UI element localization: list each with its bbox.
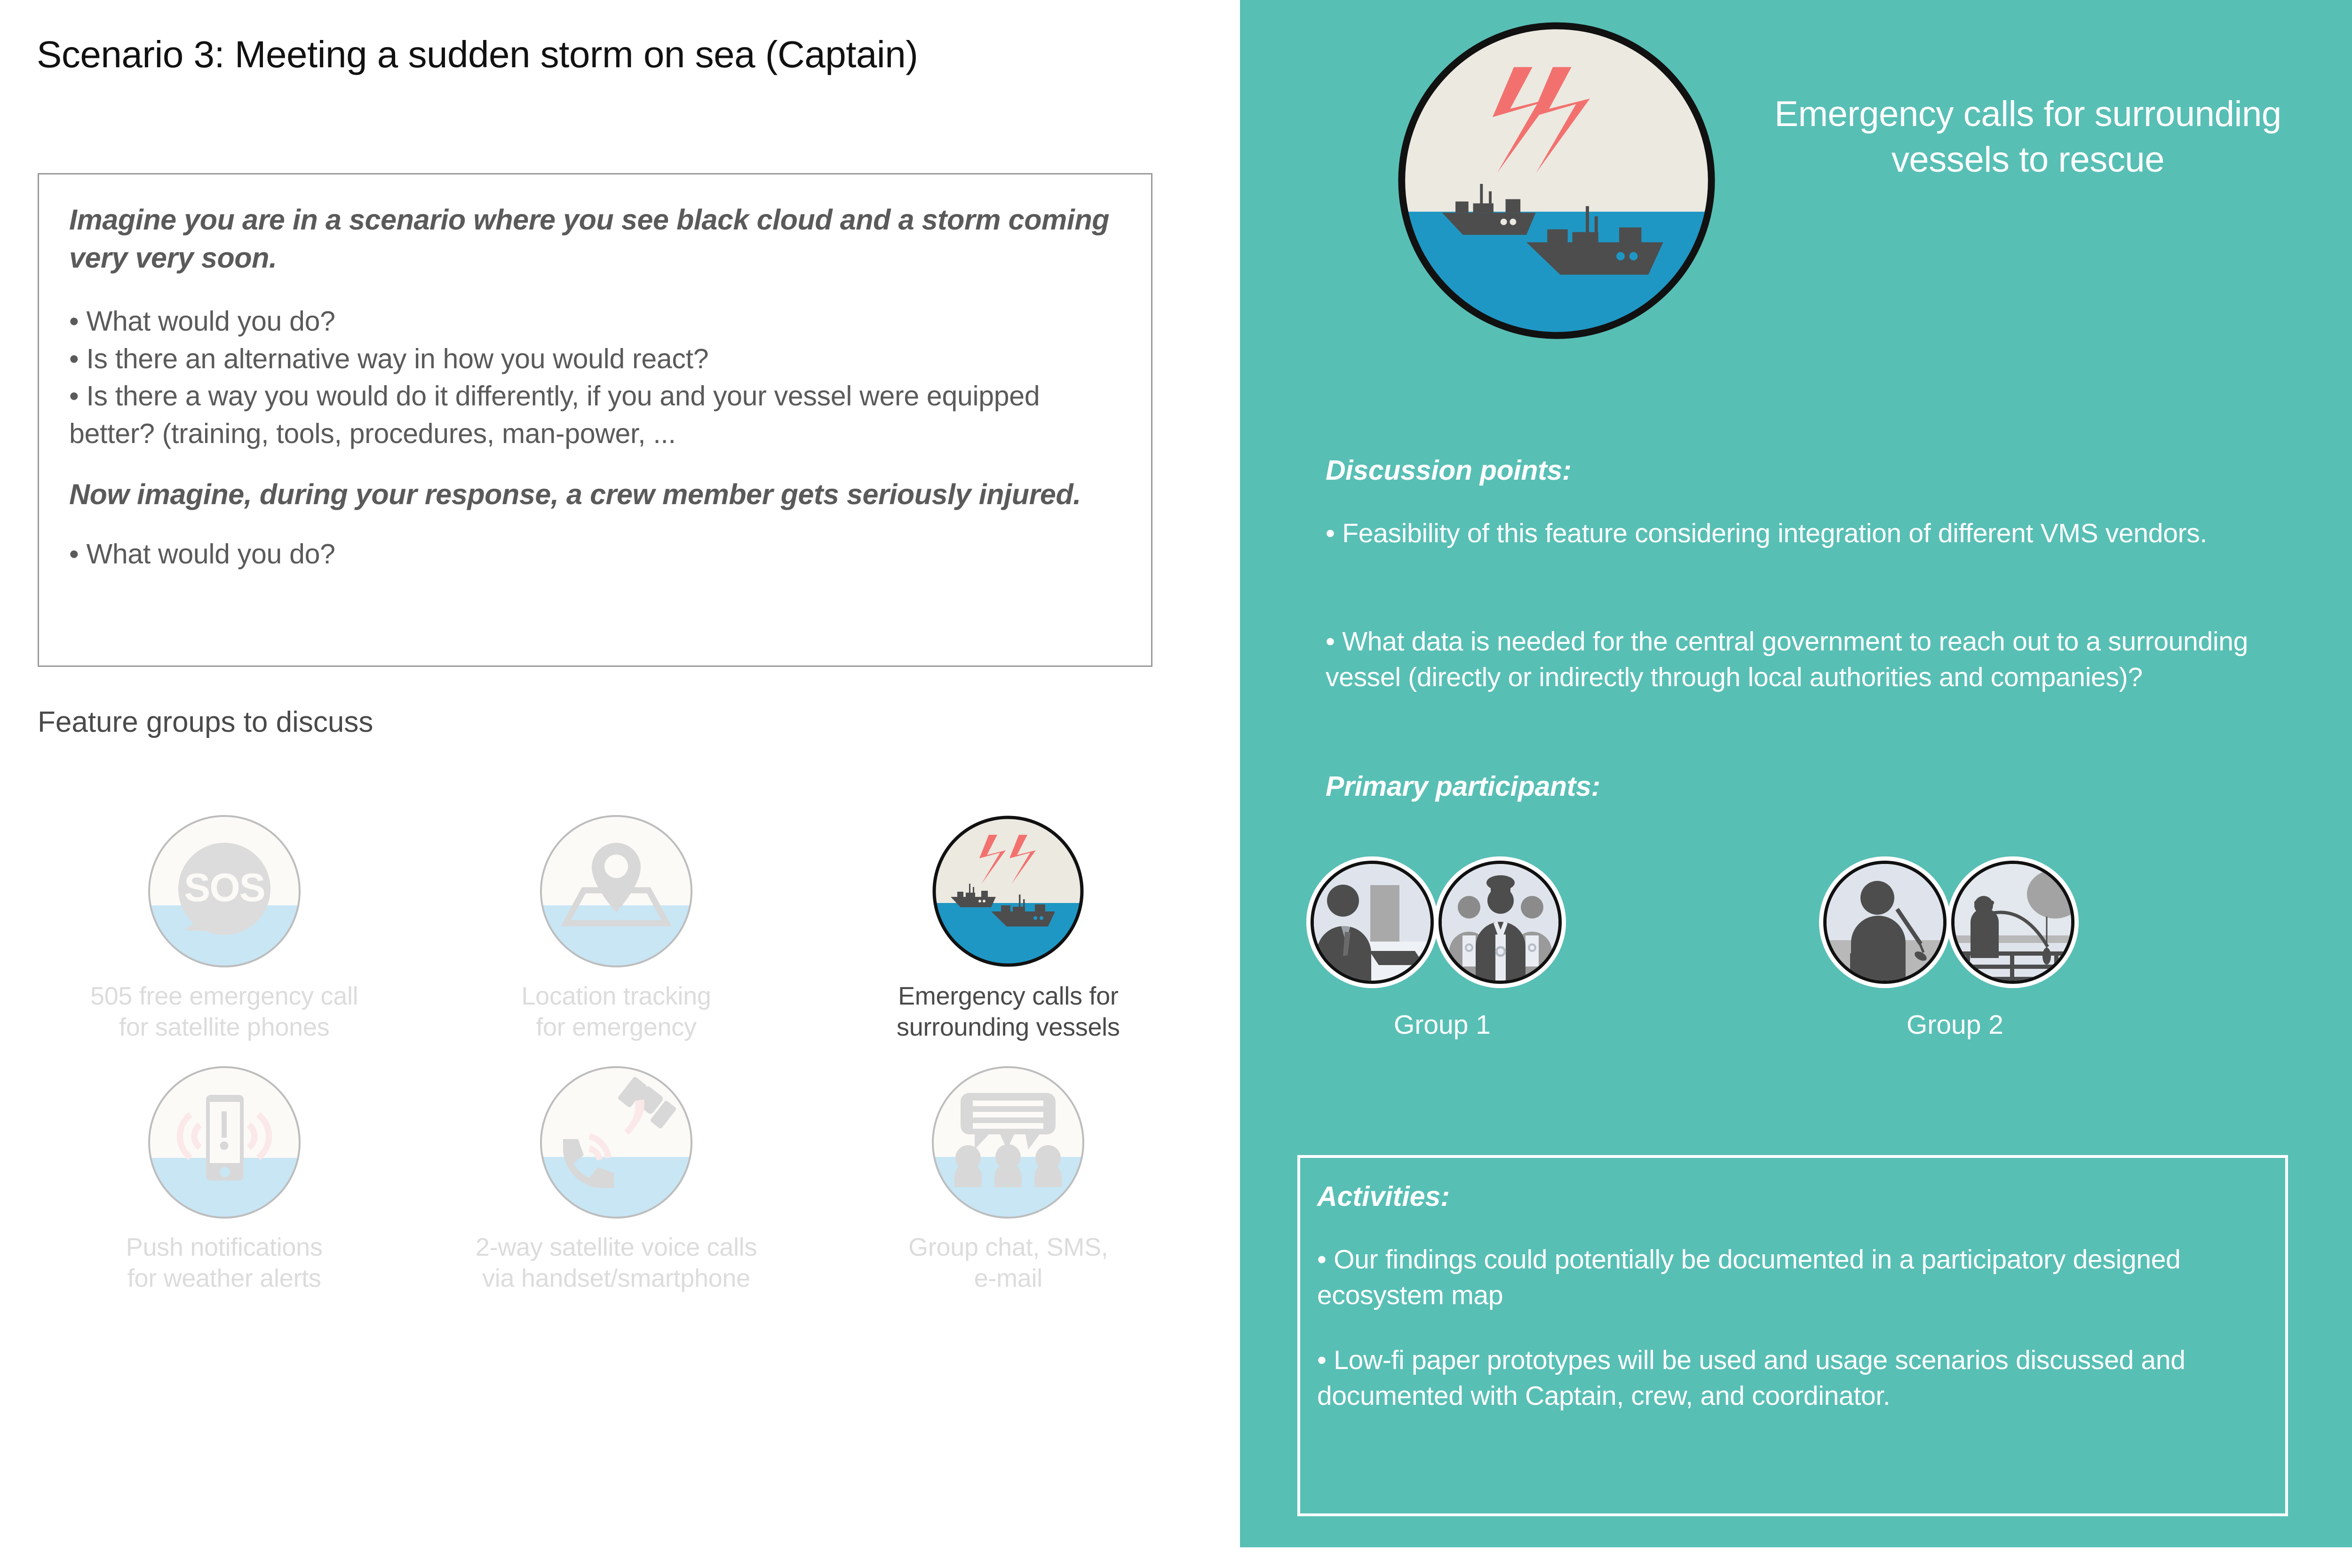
activities-heading: Activities:: [1317, 1180, 1450, 1212]
hero-title: Emergency calls for surrounding vessels …: [1757, 91, 2298, 183]
feature-groups-grid: SOS 505 free emergency call for satellit…: [28, 814, 1204, 1294]
participant-group-1[interactable]: Group 1: [1311, 861, 1574, 1040]
fisherman-with-rod-avatar: [1823, 861, 1947, 984]
hero-row: Emergency calls for surrounding vessels …: [1240, 16, 2352, 345]
feature-item-emergency-calls[interactable]: Emergency calls for surrounding vessels: [812, 814, 1204, 1043]
activities-box: Activities: • Our findings could potenti…: [1297, 1155, 2288, 1516]
feature-label-line1: Group chat, SMS,: [908, 1233, 1108, 1261]
two-vessels-storm-icon: [1375, 21, 1738, 345]
scenario-question-3: • Is there a way you would do it differe…: [69, 378, 1121, 452]
feature-label-line2: e-mail: [974, 1264, 1042, 1292]
sos-speech-bubble-icon: SOS: [147, 814, 302, 969]
feature-label-line1: Emergency calls for: [898, 982, 1118, 1010]
feature-label-line2: for weather alerts: [127, 1264, 321, 1292]
feature-label: Push notifications for weather alerts: [126, 1232, 323, 1294]
participant-group-2[interactable]: Group 2: [1823, 861, 2087, 1040]
feature-label-line2: via handset/smartphone: [482, 1264, 750, 1292]
scenario-question-1: • What would you do?: [69, 303, 1121, 341]
page-title: Scenario 3: Meeting a sudden storm on se…: [37, 33, 918, 76]
feature-label-line2: surrounding vessels: [897, 1013, 1120, 1041]
discussion-points-heading: Discussion points:: [1326, 454, 1571, 486]
participant-group-label: Group 2: [1823, 1009, 2087, 1040]
scenario-twist-question: • What would you do?: [69, 536, 1121, 573]
feature-label: Group chat, SMS, e-mail: [908, 1232, 1108, 1294]
left-panel: Scenario 3: Meeting a sudden storm on se…: [0, 0, 1240, 1568]
activity-1: • Our findings could potentially be docu…: [1317, 1242, 2253, 1314]
feature-label-line1: Push notifications: [126, 1233, 323, 1261]
feature-label: 505 free emergency call for satellite ph…: [90, 981, 358, 1043]
group-chat-icon: [930, 1065, 1086, 1220]
participant-group-label: Group 1: [1311, 1009, 1574, 1040]
map-pin-icon: [539, 814, 694, 969]
phone-alert-icon: [147, 1065, 302, 1220]
feature-groups-heading: Feature groups to discuss: [38, 705, 373, 739]
svg-text:SOS: SOS: [184, 865, 264, 910]
primary-participants-heading: Primary participants:: [1326, 770, 1600, 802]
discussion-point-2: • What data is needed for the central go…: [1326, 624, 2266, 696]
activity-2: • Low-fi paper prototypes will be used a…: [1317, 1342, 2263, 1414]
feature-item-location-tracking[interactable]: Location tracking for emergency: [420, 814, 812, 1043]
feature-label: 2-way satellite voice calls via handset/…: [476, 1232, 757, 1294]
crew-sailors-avatar: [1438, 861, 1562, 984]
feature-label-line1: 2-way satellite voice calls: [476, 1233, 757, 1261]
feature-label-line2: for satellite phones: [119, 1013, 329, 1041]
angler-on-pier-avatar: [1951, 861, 2074, 984]
scenario-question-2: • Is there an alternative way in how you…: [69, 341, 1121, 378]
discussion-point-1: • Feasibility of this feature considerin…: [1326, 515, 2262, 551]
feature-label-line1: Location tracking: [521, 982, 711, 1010]
scenario-intro-text: Imagine you are in a scenario where you …: [69, 201, 1121, 277]
feature-label-line1: 505 free emergency call: [90, 982, 358, 1010]
scenario-prompt-box: Imagine you are in a scenario where you …: [38, 173, 1152, 667]
feature-item-satellite-voice-calls[interactable]: 2-way satellite voice calls via handset/…: [420, 1065, 812, 1294]
feature-item-group-chat[interactable]: Group chat, SMS, e-mail: [812, 1065, 1204, 1294]
two-vessels-storm-icon: [930, 814, 1086, 969]
feature-label-line2: for emergency: [536, 1013, 696, 1041]
feature-label: Location tracking for emergency: [521, 981, 711, 1043]
feature-item-sos[interactable]: SOS 505 free emergency call for satellit…: [28, 814, 420, 1043]
feature-label: Emergency calls for surrounding vessels: [897, 981, 1120, 1043]
scenario-twist-text: Now imagine, during your response, a cre…: [69, 475, 1121, 514]
feature-item-push-notifications[interactable]: Push notifications for weather alerts: [28, 1065, 420, 1294]
businessman-with-laptop-avatar: [1311, 861, 1434, 984]
participant-groups: Group 1: [1311, 861, 2298, 1086]
satellite-handset-icon: [539, 1065, 694, 1220]
right-panel: Emergency calls for surrounding vessels …: [1240, 0, 2352, 1547]
